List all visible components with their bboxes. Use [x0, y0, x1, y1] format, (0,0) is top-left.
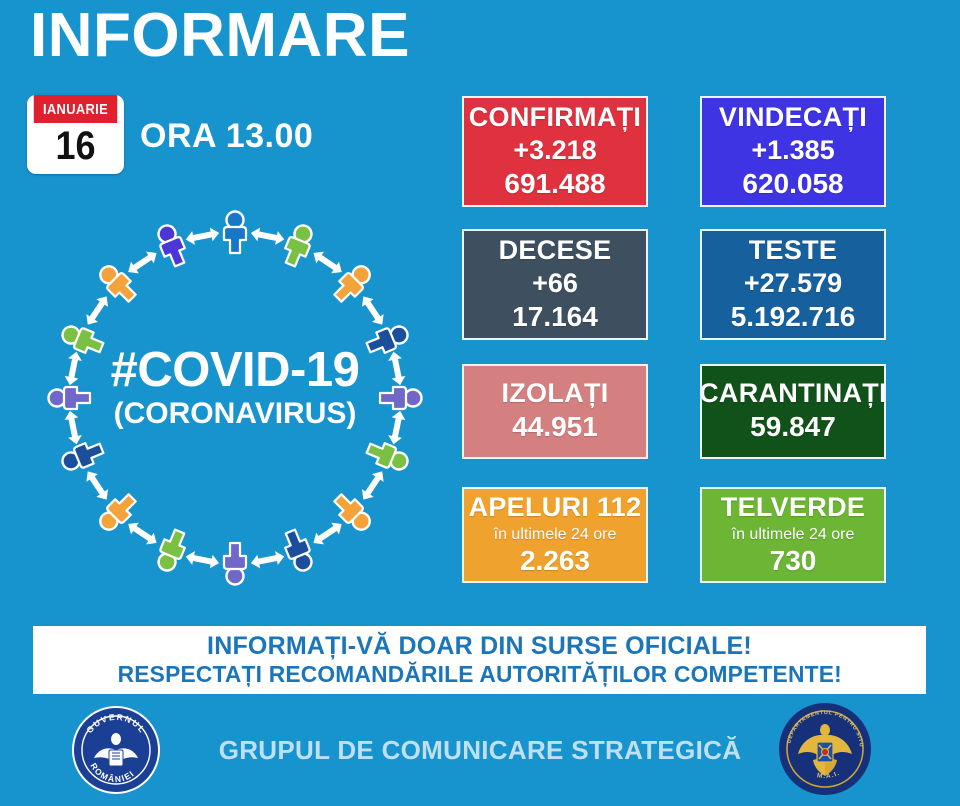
page-title: INFORMARE	[30, 2, 410, 70]
stat-label: IZOLAȚI	[501, 378, 608, 410]
banner-line-1: INFORMAȚI-VĂ DOAR DIN SURSE OFICIALE!	[207, 632, 752, 661]
banner-line-2: RESPECTAȚI RECOMANDĂRILE AUTORITĂȚILOR C…	[117, 661, 841, 687]
stat-total: 620.058	[742, 167, 843, 201]
stat-card-teste: TESTE +27.579 5.192.716	[700, 229, 886, 340]
stat-total: 2.263	[520, 544, 590, 578]
stat-card-telverde: TELVERDE în ultimele 24 ore 730	[700, 487, 886, 583]
stat-sublabel: în ultimele 24 ore	[494, 525, 617, 544]
stat-card-vindecati: VINDECAȚI +1.385 620.058	[700, 96, 886, 207]
stat-total: 44.951	[512, 410, 598, 444]
stat-delta: +66	[532, 267, 578, 300]
stat-label: APELURI 112	[469, 492, 642, 524]
stat-card-apeluri-112: APELURI 112 în ultimele 24 ore 2.263	[462, 487, 648, 583]
stat-label: TESTE	[749, 235, 838, 267]
calendar-month: IANUARIE	[34, 95, 117, 123]
stat-card-carantinati: CARANTINAȚI 59.847	[700, 364, 886, 459]
stat-delta: +1.385	[751, 134, 834, 167]
covid-circle-graphic: #COVID-19 (CORONAVIRUS)	[30, 198, 440, 598]
calendar-icon: IANUARIE 16	[27, 95, 124, 174]
stat-total: 5.192.716	[731, 300, 856, 334]
stat-card-izolati: IZOLAȚI 44.951	[462, 364, 648, 459]
official-sources-banner: INFORMAȚI-VĂ DOAR DIN SURSE OFICIALE! RE…	[33, 626, 926, 694]
stat-label: CARANTINAȚI	[699, 378, 887, 410]
stat-card-confirmati: CONFIRMAȚI +3.218 691.488	[462, 96, 648, 207]
dsu-mai-seal-icon: DEPARTAMENTUL PENTRU SITUAȚII DE URGENȚĂ…	[778, 702, 872, 796]
stat-delta: +27.579	[744, 267, 842, 300]
stat-label: VINDECAȚI	[719, 102, 867, 134]
stat-total: 17.164	[512, 300, 598, 334]
stat-card-decese: DECESE +66 17.164	[462, 229, 648, 340]
stat-label: TELVERDE	[721, 492, 865, 524]
calendar-day: 16	[32, 121, 119, 172]
stat-total: 691.488	[504, 167, 605, 201]
stat-total: 730	[770, 544, 817, 578]
report-hour: ORA 13.00	[140, 117, 313, 156]
stat-label: DECESE	[499, 235, 612, 267]
stat-label: CONFIRMAȚI	[469, 102, 641, 134]
stat-delta: +3.218	[513, 134, 596, 167]
stat-sublabel: în ultimele 24 ore	[732, 525, 855, 544]
stat-total: 59.847	[750, 410, 836, 444]
infographic-poster: INFORMARE IANUARIE 16 ORA 13.00	[0, 0, 960, 806]
